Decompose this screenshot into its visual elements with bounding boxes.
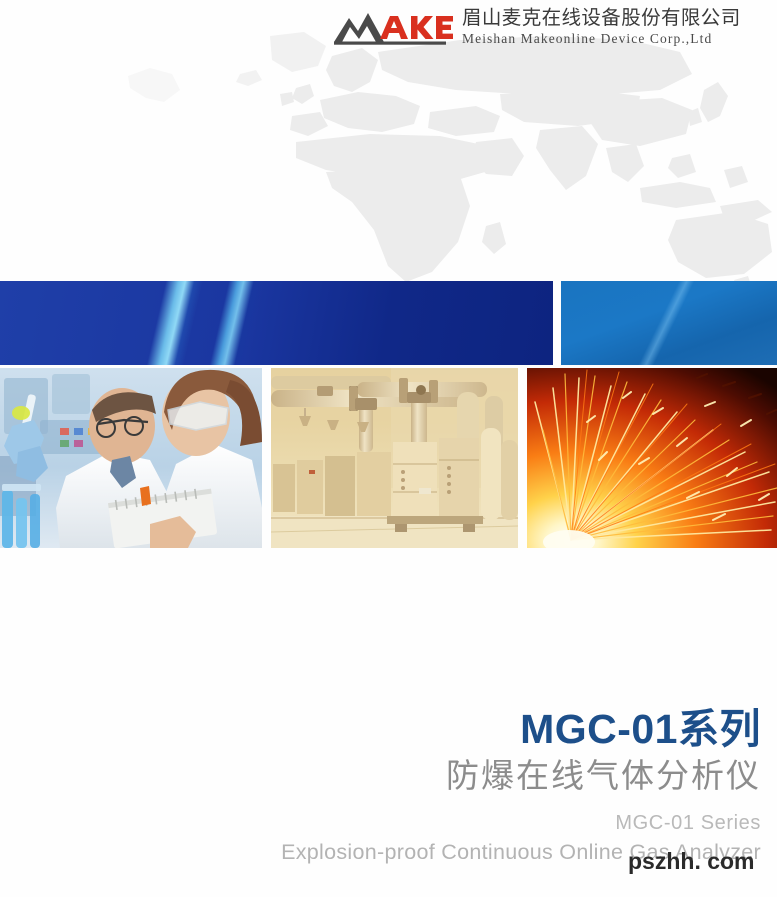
- company-name-block: 眉山麦克在线设备股份有限公司 Meishan Makeonline Device…: [462, 7, 762, 48]
- page-header: 眉山麦克在线设备股份有限公司 Meishan Makeonline Device…: [0, 0, 777, 60]
- brochure-cover-page: 眉山麦克在线设备股份有限公司 Meishan Makeonline Device…: [0, 0, 777, 897]
- photo-gas-plant: [271, 368, 518, 548]
- photo-band: [0, 368, 777, 548]
- product-subtitle-cn: 防爆在线气体分析仪: [0, 755, 761, 799]
- blue-banner-right: [561, 281, 777, 365]
- make-logo: [332, 9, 454, 47]
- product-title: MGC-01系列: [0, 705, 761, 753]
- banner-row: [0, 281, 777, 365]
- product-series-en: MGC-01 Series: [0, 809, 761, 837]
- blue-banner-left: [0, 281, 553, 365]
- company-name-en: Meishan Makeonline Device Corp.,Ltd: [462, 30, 762, 48]
- product-title-block: MGC-01系列 防爆在线气体分析仪 MGC-01 Series Explosi…: [0, 705, 777, 867]
- site-watermark: pszhh. com: [628, 848, 755, 875]
- company-name-cn: 眉山麦克在线设备股份有限公司: [462, 7, 762, 29]
- photo-welding-sparks: [527, 368, 777, 548]
- world-map-watermark: [120, 30, 777, 290]
- photo-laboratory: [0, 368, 262, 548]
